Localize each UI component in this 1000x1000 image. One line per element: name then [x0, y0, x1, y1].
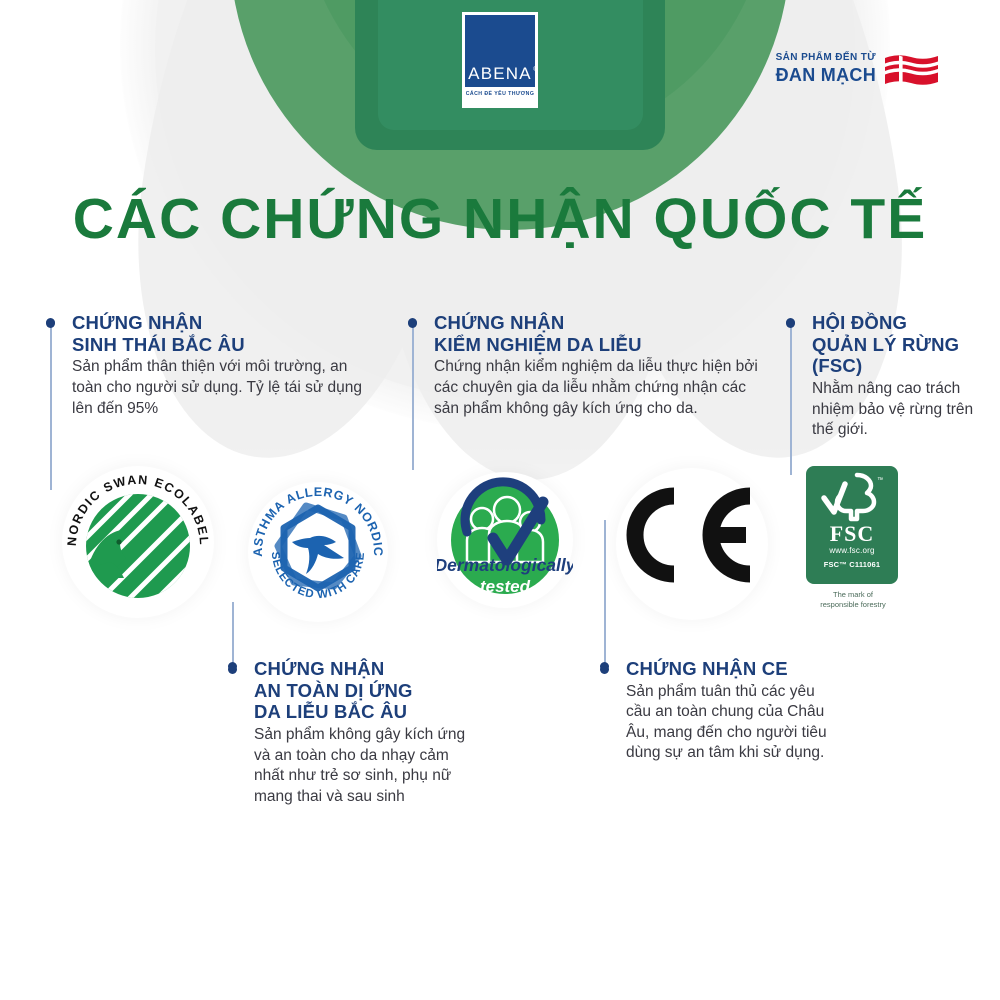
- info-block-body: Sản phẩm không gây kích ứng và an toàn c…: [228, 725, 478, 807]
- info-block-heading: HỘI ĐỒNG QUẢN LÝ RỪNG (FSC): [786, 312, 986, 377]
- info-block-nordic-ecolabel: CHỨNG NHẬN SINH THÁI BẮC ÂU Sản phẩm thâ…: [46, 312, 366, 419]
- registered-icon: ®: [533, 67, 539, 73]
- heading-line-2: KIỂM NGHIỆM DA LIỄU: [434, 334, 642, 355]
- connector-dot-fsc: [786, 318, 795, 327]
- fsc-caption-line2: responsible forestry: [820, 600, 885, 609]
- heading-line-1: CHỨNG NHẬN CE: [626, 658, 788, 679]
- nordic-swan-ecolabel-logo: NORDIC SWAN ECOLABEL: [62, 466, 214, 618]
- denmark-origin-line2: ĐAN MẠCH: [776, 66, 876, 85]
- info-block-body: Sản phẩm thân thiện với môi trường, an t…: [46, 357, 366, 419]
- nordic-swan-graphic: NORDIC SWAN ECOLABEL: [62, 466, 214, 618]
- heading-line-1: CHỨNG NHẬN: [72, 312, 202, 333]
- info-block-heading: CHỨNG NHẬN SINH THÁI BẮC ÂU: [46, 312, 366, 355]
- info-block-body: Sản phẩm tuân thủ các yêu cầu an toàn ch…: [600, 682, 840, 764]
- connector-line-ce: [604, 520, 606, 666]
- info-block-body: Chứng nhận kiểm nghiệm da liễu thực hiện…: [408, 357, 758, 419]
- denmark-origin-line1: SẢN PHẨM ĐẾN TỪ: [776, 53, 876, 64]
- heading-line-1: CHỨNG NHẬN: [434, 312, 564, 333]
- denmark-origin-badge: SẢN PHẨM ĐẾN TỪ ĐAN MẠCH: [776, 52, 940, 86]
- fsc-wordmark: FSC: [806, 523, 898, 545]
- heading-line-1: HỘI ĐỒNG: [812, 312, 907, 333]
- abena-logo-box: ABENA®: [465, 15, 535, 87]
- abena-logo-wordmark: ABENA®: [468, 65, 532, 87]
- abena-logo-text: ABENA: [468, 64, 532, 83]
- info-block-body: Nhằm nâng cao trách nhiệm bảo vệ rừng tr…: [786, 379, 986, 441]
- info-block-heading: CHỨNG NHẬN AN TOÀN DỊ ỨNG DA LIỄU BẮC ÂU: [228, 658, 478, 723]
- heading-line-3: DA LIỄU BẮC ÂU: [254, 701, 407, 722]
- connector-dot-ce: [600, 662, 609, 671]
- infographic-page: ABENA® CÁCH ĐỂ YÊU THƯƠNG SẢN PHẨM ĐẾN T…: [0, 0, 1000, 1000]
- fsc-card: ™ FSC www.fsc.org FSC™ C111061: [806, 466, 898, 584]
- heading-line-2: AN TOÀN DỊ ỨNG: [254, 680, 413, 701]
- info-block-heading: CHỨNG NHẬN KIỂM NGHIỆM DA LIỄU: [408, 312, 758, 355]
- heading-line-2: SINH THÁI BẮC ÂU: [72, 334, 245, 355]
- ce-mark-logo: [622, 478, 762, 598]
- page-title: CÁC CHỨNG NHẬN QUỐC TẾ: [0, 186, 1000, 252]
- heading-line-3: (FSC): [812, 355, 862, 376]
- denmark-origin-text: SẢN PHẨM ĐẾN TỪ ĐAN MẠCH: [776, 53, 876, 84]
- denmark-flag-icon: [884, 52, 940, 86]
- connector-dot-dermatology: [408, 318, 417, 327]
- dermatologically-graphic: Dermatologically tested: [437, 472, 573, 608]
- connector-line-allergy: [232, 602, 234, 664]
- abena-logo: ABENA® CÁCH ĐỂ YÊU THƯƠNG: [462, 12, 538, 108]
- abena-logo-tagline: CÁCH ĐỂ YÊU THƯƠNG: [465, 87, 535, 97]
- connector-dot-nordic: [46, 318, 55, 327]
- fsc-license-code: FSC™ C111061: [806, 561, 898, 569]
- fsc-caption: The mark of responsible forestry: [798, 590, 908, 610]
- heading-line-1: CHỨNG NHẬN: [254, 658, 384, 679]
- ce-mark-graphic: [622, 480, 762, 590]
- fsc-logo: ™ FSC www.fsc.org FSC™ C111061 The mark …: [806, 466, 918, 626]
- connector-dot-allergy: [228, 662, 237, 671]
- info-block-ce-mark: CHỨNG NHẬN CE Sản phẩm tuân thủ các yêu …: [600, 658, 840, 764]
- asthma-allergy-nordic-logo: ASTHMA ALLERGY NORDIC SELECTED WITH CARE: [248, 482, 388, 622]
- dermatologically-tested-logo: Dermatologically tested: [437, 472, 573, 608]
- asthma-allergy-graphic: ASTHMA ALLERGY NORDIC SELECTED WITH CARE: [248, 482, 388, 622]
- info-block-allergy-safe: CHỨNG NHẬN AN TOÀN DỊ ỨNG DA LIỄU BẮC ÂU…: [228, 658, 478, 807]
- info-block-dermatology-test: CHỨNG NHẬN KIỂM NGHIỆM DA LIỄU Chứng nhậ…: [408, 312, 758, 419]
- heading-line-2: QUẢN LÝ RỪNG: [812, 334, 959, 355]
- info-block-heading: CHỨNG NHẬN CE: [600, 658, 840, 680]
- fsc-caption-line1: The mark of: [833, 590, 873, 599]
- fsc-url: www.fsc.org: [806, 547, 898, 555]
- dermatologically-line2: tested: [480, 577, 531, 596]
- fsc-tree-check-icon: ™: [821, 472, 883, 522]
- info-block-fsc-council: HỘI ĐỒNG QUẢN LÝ RỪNG (FSC) Nhằm nâng ca…: [786, 312, 986, 441]
- fsc-trademark: ™: [877, 477, 883, 484]
- dermatologically-line1: Dermatologically: [437, 555, 573, 575]
